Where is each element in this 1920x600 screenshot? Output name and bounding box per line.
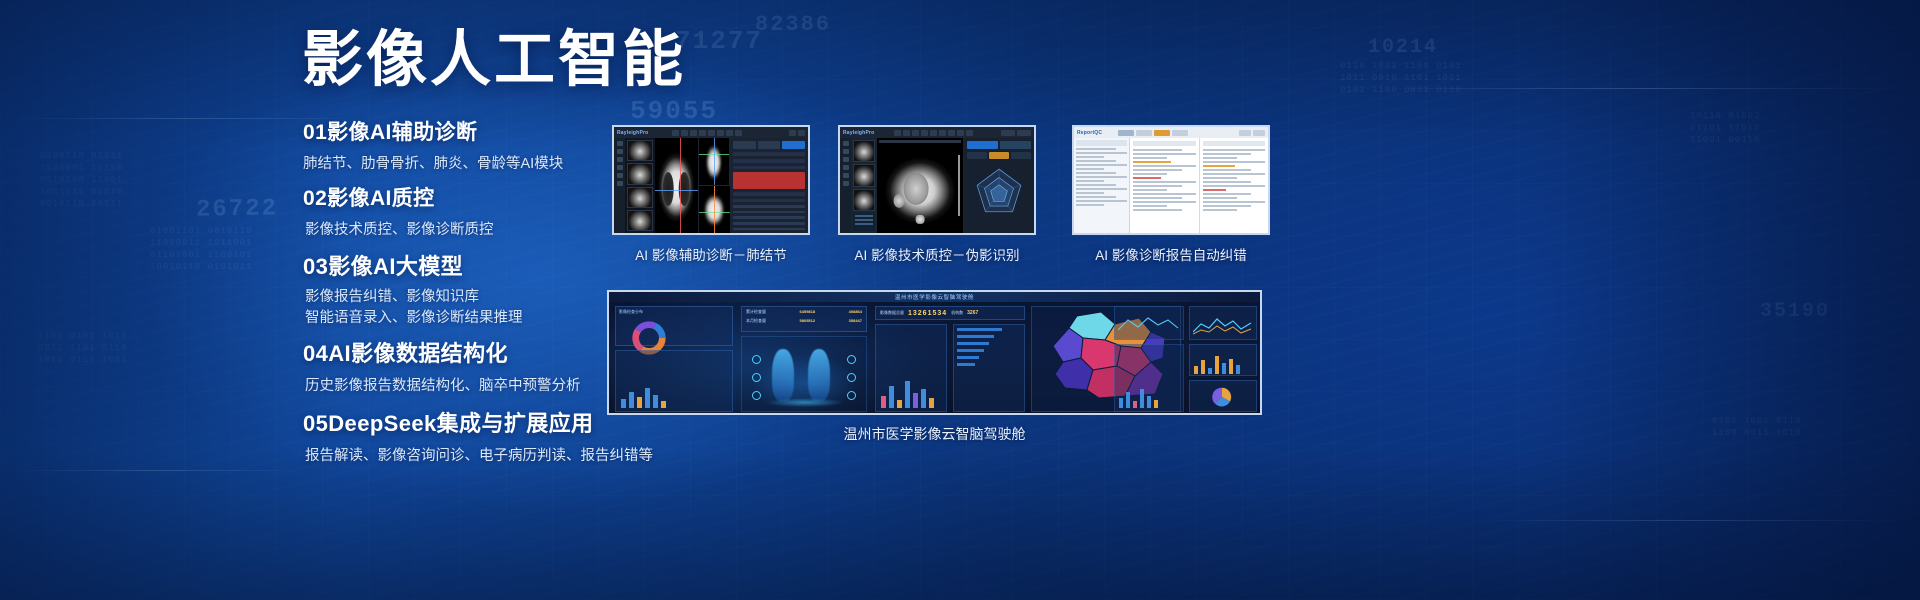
- tool-rail[interactable]: [840, 138, 851, 233]
- panel-button-active[interactable]: [782, 141, 805, 149]
- dashboard-card-body-model[interactable]: [741, 336, 867, 412]
- kpi-value: 358447: [849, 318, 862, 324]
- study-item[interactable]: [855, 215, 873, 217]
- report-line: [1133, 197, 1182, 199]
- report-line: [1133, 193, 1196, 195]
- panel-button[interactable]: [733, 141, 756, 149]
- bar-chart-mid: [881, 378, 934, 408]
- bar: [1119, 398, 1123, 408]
- report-line: [1203, 161, 1266, 163]
- report-line-highlighted: [1133, 161, 1171, 163]
- dashboard-card-ranking[interactable]: [953, 324, 1025, 412]
- pie-chart-right: [1209, 384, 1235, 410]
- feature-title: 04AI影像数据结构化: [303, 336, 581, 368]
- line-chart-right: [1193, 314, 1253, 336]
- report-line: [1203, 197, 1237, 199]
- worklist-row[interactable]: [1076, 192, 1104, 194]
- report-line: [1133, 201, 1196, 203]
- crosshair-vertical: [714, 186, 715, 233]
- report-line: [1203, 157, 1237, 159]
- menu-item[interactable]: [1118, 130, 1134, 136]
- worklist-row[interactable]: [1076, 188, 1127, 190]
- toolbar-icon[interactable]: [939, 130, 946, 136]
- report-header: [1133, 141, 1196, 146]
- hotspot-icon[interactable]: [752, 391, 761, 400]
- quality-control-panel[interactable]: [964, 138, 1034, 233]
- bar: [1154, 400, 1158, 408]
- report-line: [1133, 149, 1182, 151]
- rank-row: [957, 363, 975, 366]
- report-line: [1203, 153, 1252, 155]
- tool-icon[interactable]: [617, 181, 623, 186]
- report-line: [1133, 157, 1167, 159]
- study-item[interactable]: [855, 223, 873, 225]
- bar: [1126, 392, 1130, 408]
- kpi-value: 13261534: [908, 310, 947, 317]
- toolbar-icon[interactable]: [912, 130, 919, 136]
- ct-image: [658, 149, 695, 225]
- tool-icon[interactable]: [843, 157, 849, 162]
- feature-title: 02影像AI质控: [303, 182, 494, 212]
- hotspot-icon[interactable]: [847, 391, 856, 400]
- screenshot-ai-lung-nodule[interactable]: RayleighPro: [612, 125, 810, 235]
- heart-region: [903, 173, 928, 205]
- bar: [1133, 401, 1137, 408]
- report-text-line: [733, 211, 805, 214]
- report-line: [1203, 177, 1237, 179]
- toolbar-icon[interactable]: [948, 130, 955, 136]
- worklist-row[interactable]: [1076, 164, 1127, 166]
- report-text-line: [733, 222, 805, 225]
- bar: [637, 397, 642, 408]
- bar-chart-left: [621, 384, 666, 408]
- user-icon[interactable]: [1239, 130, 1251, 136]
- report-line: [1133, 169, 1182, 171]
- worklist-row[interactable]: [1076, 180, 1104, 182]
- report-line: [1133, 209, 1182, 211]
- feature-subtitle-line: 智能语音录入、影像诊断结果推理: [305, 308, 523, 329]
- finding-row[interactable]: [733, 166, 805, 170]
- study-list[interactable]: [853, 213, 875, 231]
- app-logo: RayleighPro: [843, 130, 874, 136]
- report-line: [1133, 205, 1167, 207]
- card-title: 影像检查分布: [616, 307, 732, 317]
- bar: [889, 386, 894, 408]
- toolbar-icon[interactable]: [903, 130, 910, 136]
- toolbar-icon[interactable]: [726, 130, 733, 136]
- panel-tab[interactable]: [967, 152, 987, 159]
- worklist-row[interactable]: [1076, 148, 1116, 150]
- toolbar-icon[interactable]: [894, 130, 901, 136]
- tool-icon[interactable]: [843, 141, 849, 146]
- report-line: [1203, 185, 1266, 187]
- kpi-value: 5805512: [800, 318, 816, 324]
- app-titlebar: ReportQC: [1074, 127, 1268, 138]
- feature-subtitle-line: 历史影像报告数据结构化、脑卒中预警分析: [305, 374, 581, 395]
- rank-row: [957, 335, 994, 338]
- worklist-row[interactable]: [1076, 176, 1127, 178]
- bar: [1140, 389, 1144, 408]
- bar: [1194, 366, 1198, 374]
- kpi-row: 本月检查量 5805512 358447: [746, 318, 862, 324]
- report-line: [1203, 149, 1266, 151]
- feature-subtitle: 历史影像报告数据结构化、脑卒中预警分析: [305, 374, 581, 395]
- rank-row: [957, 356, 979, 359]
- panel-tab-row[interactable]: [967, 152, 1031, 159]
- bar-chart-right: [1194, 354, 1240, 374]
- finding-row[interactable]: [733, 152, 805, 156]
- screenshot-ai-artifact-detection[interactable]: RayleighPro: [838, 125, 1036, 235]
- bar: [1222, 363, 1226, 374]
- ct-secondary-views: [699, 138, 730, 233]
- hotspot-icon[interactable]: [752, 355, 761, 364]
- report-line-error: [1133, 177, 1161, 179]
- left-content-column: 影像人工智能: [302, 28, 702, 90]
- feature-item-01[interactable]: 01影像AI辅助诊断 肺结节、肋骨骨折、肺炎、骨龄等AI模块: [303, 116, 563, 173]
- menu-item[interactable]: [1172, 130, 1188, 136]
- ct-coronal-view[interactable]: [699, 138, 730, 186]
- tool-icon[interactable]: [617, 173, 623, 178]
- screenshot-caption: AI 影像诊断报告自动纠错: [1072, 244, 1270, 264]
- series-thumbnail[interactable]: [853, 140, 875, 162]
- tool-icon[interactable]: [843, 181, 849, 186]
- bar: [1229, 359, 1233, 374]
- bar: [645, 388, 650, 408]
- feature-subtitle: 影像报告纠错、影像知识库 智能语音录入、影像诊断结果推理: [305, 287, 523, 328]
- bar: [629, 392, 634, 408]
- bar: [897, 400, 902, 408]
- toolbar-icon[interactable]: [735, 130, 742, 136]
- feature-item-03[interactable]: 03影像AI大模型 影像报告纠错、影像知识库 智能语音录入、影像诊断结果推理: [303, 249, 523, 328]
- feature-item-04[interactable]: 04AI影像数据结构化 历史影像报告数据结构化、脑卒中预警分析: [303, 336, 581, 395]
- worklist-row[interactable]: [1076, 156, 1104, 158]
- series-thumbnail[interactable]: [853, 164, 875, 186]
- report-line: [1203, 205, 1252, 207]
- feature-item-02[interactable]: 02影像AI质控 影像技术质控、影像诊断质控: [303, 182, 494, 239]
- study-item[interactable]: [855, 219, 873, 221]
- bar: [661, 401, 666, 408]
- toolbar-icon[interactable]: [966, 130, 973, 136]
- human-body-right: [808, 349, 830, 401]
- report-editor-right[interactable]: [1200, 138, 1269, 233]
- feature-subtitle: 影像技术质控、影像诊断质控: [305, 218, 494, 239]
- panel-button-row[interactable]: [967, 141, 1031, 149]
- screenshot-report-auto-correction[interactable]: ReportQC: [1072, 125, 1270, 235]
- artifact-region: [894, 194, 905, 208]
- worklist-row[interactable]: [1076, 204, 1104, 206]
- series-thumbnail[interactable]: [627, 163, 653, 184]
- report-editor-left[interactable]: [1130, 138, 1200, 233]
- ct-axial-view[interactable]: [877, 138, 964, 233]
- report-line: [1203, 209, 1237, 211]
- app-titlebar: RayleighPro: [614, 127, 808, 138]
- bar: [905, 381, 910, 408]
- bar-chart-small: [1119, 388, 1158, 408]
- page-title: 影像人工智能: [302, 28, 702, 90]
- bar: [1236, 365, 1240, 374]
- worklist-row[interactable]: [1076, 168, 1104, 170]
- finding-row[interactable]: [733, 192, 805, 196]
- rank-row: [957, 342, 989, 345]
- worklist-search[interactable]: [1076, 140, 1127, 146]
- dicom-viewer[interactable]: [655, 138, 730, 233]
- crosshair-horizontal: [655, 190, 698, 191]
- kpi-label: 累计检查量: [746, 309, 766, 315]
- dashboard-header: 温州市医学影像云智脑驾驶舱: [609, 292, 1260, 302]
- panel-button-active[interactable]: [967, 141, 998, 149]
- panel-tab[interactable]: [1011, 152, 1031, 159]
- tool-icon[interactable]: [617, 141, 623, 146]
- report-line-highlighted: [1203, 165, 1236, 167]
- report-line-error: [1203, 189, 1227, 191]
- screenshot-caption: 温州市医学影像云智脑驾驶舱: [607, 424, 1262, 444]
- bar: [881, 396, 886, 408]
- kpi-value: 408864: [849, 309, 862, 315]
- save-button[interactable]: [1001, 130, 1015, 136]
- feature-subtitle-line: 肺结节、肋骨骨折、肺炎、骨龄等AI模块: [303, 152, 563, 173]
- report-text-line: [733, 216, 805, 219]
- feature-title: 03影像AI大模型: [303, 249, 523, 281]
- report-line: [1133, 181, 1196, 183]
- close-icon[interactable]: [798, 130, 805, 136]
- close-icon[interactable]: [1253, 130, 1265, 136]
- settings-button[interactable]: [1017, 130, 1031, 136]
- finding-row[interactable]: [733, 159, 805, 163]
- bar: [1215, 356, 1219, 374]
- toolbar-icon[interactable]: [717, 130, 724, 136]
- dashboard-title: 温州市医学影像云智脑驾驶舱: [895, 293, 974, 301]
- screenshot-caption: AI 影像技术质控－伪影识别: [838, 244, 1036, 264]
- report-line: [1133, 185, 1182, 187]
- worklist-panel[interactable]: [1074, 138, 1130, 233]
- minimize-icon[interactable]: [789, 130, 796, 136]
- image-info-bar: [879, 140, 961, 143]
- ct-image: [886, 156, 955, 226]
- series-thumbnail[interactable]: [627, 140, 653, 161]
- toolbar-icon[interactable]: [699, 130, 706, 136]
- toolbar-icon[interactable]: [690, 130, 697, 136]
- bar: [1201, 360, 1205, 374]
- tool-icon[interactable]: [843, 165, 849, 170]
- feature-subtitle-line: 影像技术质控、影像诊断质控: [305, 218, 494, 239]
- feature-subtitle-line: 影像报告纠错、影像知识库: [305, 287, 523, 308]
- panel-tab-active[interactable]: [989, 152, 1009, 159]
- kpi-label: 机构数: [951, 310, 963, 316]
- worklist-row[interactable]: [1076, 184, 1116, 186]
- report-text-line: [733, 228, 805, 231]
- panel-button[interactable]: [1000, 141, 1031, 149]
- bar: [913, 393, 918, 408]
- worklist-row[interactable]: [1076, 172, 1116, 174]
- rank-row: [957, 328, 1002, 331]
- toolbar-icon[interactable]: [921, 130, 928, 136]
- screenshot-caption: AI 影像辅助诊断－肺结节: [612, 244, 810, 264]
- feature-title: 05DeepSeek集成与扩展应用: [303, 406, 653, 438]
- report-line: [1133, 189, 1167, 191]
- worklist-row[interactable]: [1076, 196, 1116, 198]
- crosshair-vertical: [714, 138, 715, 185]
- app-logo: ReportQC: [1077, 130, 1102, 136]
- series-thumbnail[interactable]: [627, 187, 653, 208]
- tool-icon[interactable]: [617, 149, 623, 154]
- sparkline-chart: [1118, 314, 1180, 336]
- report-line: [1203, 193, 1252, 195]
- screenshot-imaging-cloud-dashboard[interactable]: 温州市医学影像云智脑驾驶舱 影像检查分布 累计检查量 6459818 40886…: [607, 290, 1262, 415]
- feature-subtitle: 肺结节、肋骨骨折、肺炎、骨龄等AI模块: [303, 152, 563, 173]
- toolbar-icon[interactable]: [672, 130, 679, 136]
- series-thumbnail[interactable]: [627, 210, 653, 231]
- tool-icon[interactable]: [617, 157, 623, 162]
- report-line: [1133, 165, 1196, 167]
- feature-title: 01影像AI辅助诊断: [303, 116, 563, 146]
- ct-axial-view[interactable]: [655, 138, 699, 233]
- spine-region: [916, 214, 924, 224]
- app-logo: RayleighPro: [617, 130, 648, 136]
- panel-button-row[interactable]: [733, 141, 805, 149]
- tool-icon[interactable]: [617, 165, 623, 170]
- rank-row: [957, 349, 984, 352]
- hotspot-icon[interactable]: [847, 373, 856, 382]
- report-line: [1203, 173, 1266, 175]
- toolbar-icon[interactable]: [957, 130, 964, 136]
- report-line: [1133, 153, 1196, 155]
- toolbar-icon[interactable]: [708, 130, 715, 136]
- human-body-left: [772, 349, 794, 401]
- bar: [653, 395, 658, 408]
- kpi-label: 本月检查量: [746, 318, 766, 324]
- finding-row[interactable]: [733, 199, 805, 203]
- series-thumbnail-list[interactable]: [851, 138, 877, 233]
- bar: [929, 398, 934, 408]
- window-level-bar[interactable]: [958, 155, 960, 216]
- tool-icon[interactable]: [843, 149, 849, 154]
- toolbar-icon[interactable]: [681, 130, 688, 136]
- menu-item-highlighted[interactable]: [1154, 130, 1170, 136]
- kpi-value: 6459818: [800, 309, 816, 315]
- report-line: [1203, 181, 1252, 183]
- dicom-viewer[interactable]: [877, 138, 1034, 233]
- feature-subtitle: 报告解读、影像咨询问诊、电子病历判读、报告纠错等: [305, 444, 653, 465]
- panel-button[interactable]: [758, 141, 781, 149]
- tool-rail[interactable]: [614, 138, 625, 233]
- worklist-row[interactable]: [1076, 160, 1116, 162]
- bar: [1208, 368, 1212, 374]
- dashboard-kpi-group-1: 累计检查量 6459818 408864 本月检查量 5805512 35844…: [741, 306, 867, 332]
- feature-item-05[interactable]: 05DeepSeek集成与扩展应用 报告解读、影像咨询问诊、电子病历判读、报告纠…: [303, 406, 653, 465]
- body-platform-glow: [766, 398, 844, 407]
- bar: [921, 389, 926, 408]
- report-line: [1133, 173, 1167, 175]
- crosshair-vertical: [680, 138, 681, 233]
- kpi-value: 3267: [967, 310, 978, 316]
- lung-lobe: [663, 172, 674, 205]
- bar: [1147, 396, 1151, 408]
- quality-radar-chart: [973, 166, 1025, 218]
- toolbar-icon[interactable]: [930, 130, 937, 136]
- hotspot-icon[interactable]: [752, 373, 761, 382]
- ct-sagittal-view[interactable]: [699, 186, 730, 233]
- worklist-row[interactable]: [1076, 152, 1127, 154]
- app-titlebar: RayleighPro: [840, 127, 1034, 138]
- report-line: [1203, 201, 1266, 203]
- bar: [621, 399, 626, 408]
- kpi-label: 影像数据总量: [880, 310, 904, 316]
- feature-subtitle-line: 报告解读、影像咨询问诊、电子病历判读、报告纠错等: [305, 444, 653, 465]
- worklist-row[interactable]: [1076, 200, 1127, 202]
- findings-panel[interactable]: [730, 138, 808, 233]
- dashboard-kpi-group-2: 影像数据总量 13261534 机构数 3267: [875, 306, 1025, 320]
- finding-alert-row[interactable]: [733, 172, 805, 188]
- report-header: [1203, 141, 1266, 146]
- series-thumbnail-list[interactable]: [625, 138, 655, 233]
- hotspot-icon[interactable]: [847, 355, 856, 364]
- report-text-line: [733, 205, 805, 208]
- kpi-row: 累计检查量 6459818 408864: [746, 309, 862, 315]
- tool-icon[interactable]: [843, 173, 849, 178]
- report-line: [1203, 169, 1252, 171]
- radar-chart-svg: [973, 166, 1025, 218]
- menu-item[interactable]: [1136, 130, 1152, 136]
- report-workspace[interactable]: [1074, 138, 1268, 233]
- series-thumbnail[interactable]: [853, 189, 875, 211]
